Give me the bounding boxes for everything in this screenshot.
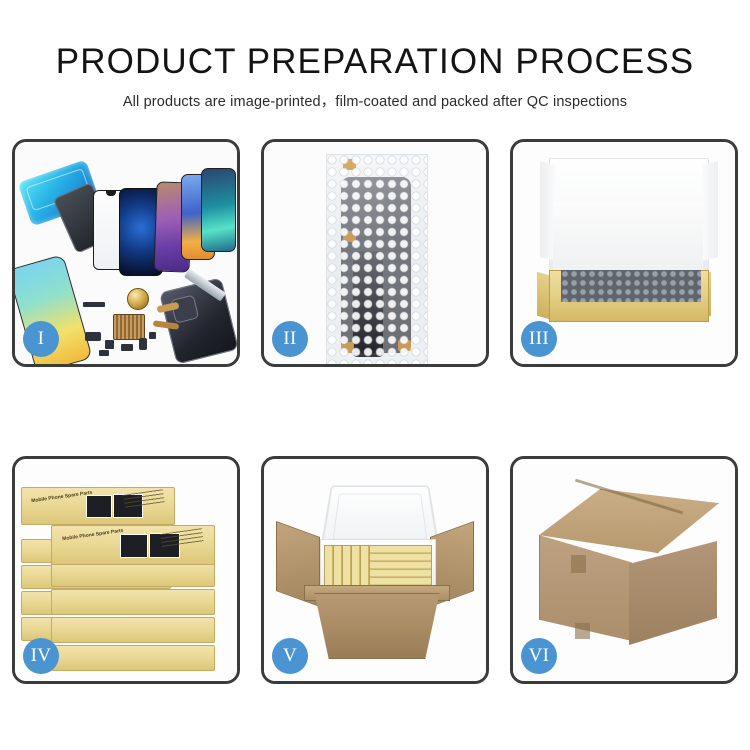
box-image-phone-1	[120, 534, 148, 558]
speaker-module-icon	[127, 288, 149, 310]
part-block-icon	[85, 332, 101, 341]
process-step-6[interactable]: VI	[510, 456, 738, 684]
page-title: PRODUCT PREPARATION PROCESS	[0, 44, 750, 81]
top-printed-box-back: Mobile Phone Spare Parts	[21, 487, 175, 525]
white-foam-sheet	[553, 202, 703, 274]
stacked-box-right-3	[51, 589, 215, 615]
carton-tape-upper	[571, 555, 586, 573]
box-image-phone-3	[86, 495, 112, 518]
part-tiny-icon	[99, 350, 109, 356]
spare-parts-cluster	[83, 292, 173, 358]
bubble-texture	[327, 155, 427, 364]
top-printed-box-front: Mobile Phone Spare Parts	[51, 525, 215, 565]
bubble-wrap-bag	[326, 154, 428, 364]
stacked-box-right-2	[51, 617, 215, 643]
page-header: PRODUCT PREPARATION PROCESS All products…	[0, 44, 750, 111]
page-subtitle: All products are image-printed，film-coat…	[0, 90, 750, 111]
box-spec-text-block-front	[160, 528, 204, 549]
step-badge-4: IV	[23, 638, 59, 674]
grey-bubble-padding	[561, 270, 701, 302]
product-preparation-process-page: PRODUCT PREPARATION PROCESS All products…	[0, 0, 750, 750]
process-step-3[interactable]: III	[510, 139, 738, 367]
step-badge-3: III	[521, 321, 557, 357]
process-step-2[interactable]: II	[261, 139, 489, 367]
stacked-box-right-1	[51, 645, 215, 671]
process-step-4[interactable]: Mobile Phone Spare Parts Mobile Phone Sp…	[12, 456, 240, 684]
box-label-front: Mobile Phone Spare Parts	[62, 528, 124, 543]
carton-body	[306, 593, 448, 659]
box-label-back: Mobile Phone Spare Parts	[31, 489, 93, 504]
inner-yellow-boxes-side	[324, 545, 370, 589]
step-badge-6: VI	[521, 638, 557, 674]
process-step-grid: I II	[12, 139, 738, 684]
step-badge-2: II	[272, 321, 308, 357]
process-step-5[interactable]: V	[261, 456, 489, 684]
part-vertical-icon	[139, 338, 147, 350]
part-bar-icon	[83, 302, 105, 307]
part-square-icon	[105, 340, 114, 349]
process-step-1[interactable]: I	[12, 139, 240, 367]
part-dot-icon	[149, 332, 156, 339]
logic-board-chip-icon	[113, 314, 145, 340]
step-badge-5: V	[272, 638, 308, 674]
part-small-icon	[121, 344, 133, 351]
step-badge-1: I	[23, 321, 59, 357]
box-spec-text-block-back	[123, 490, 164, 510]
carton-tape-lower	[575, 623, 590, 639]
teal-display-phone-icon	[201, 168, 236, 252]
